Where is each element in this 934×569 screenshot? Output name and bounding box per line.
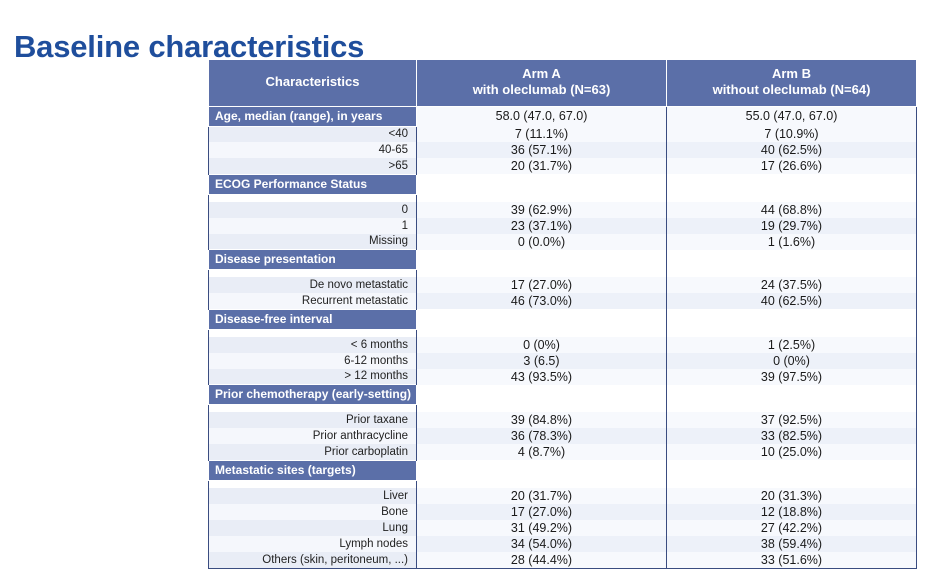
table-row: Prior anthracycline36 (78.3%)33 (82.5%) [209,428,917,444]
table-row: >6520 (31.7%)17 (26.6%) [209,158,917,174]
row-value-arm-b: 40 (62.5%) [667,293,917,309]
row-value-arm-a: 39 (62.9%) [417,202,667,218]
table-section-row: Prior chemotherapy (early-setting) [209,385,917,405]
spacer-cell [209,270,417,278]
table-spacer-row [209,194,917,202]
table-row: Prior taxane39 (84.8%)37 (92.5%) [209,412,917,428]
row-label: Prior taxane [209,412,417,428]
section-value-empty [417,460,667,480]
row-value-arm-b: 33 (82.5%) [667,428,917,444]
baseline-characteristics-table: Characteristics Arm A with oleclumab (N=… [208,59,916,569]
table-section-row: Disease-free interval [209,309,917,329]
section-value-empty [667,460,917,480]
section-value-empty [667,385,917,405]
table-row: Prior carboplatin4 (8.7%)10 (25.0%) [209,444,917,460]
spacer-cell [417,194,667,202]
section-value-empty [417,385,667,405]
section-label: Metastatic sites (targets) [209,460,417,480]
row-label: Missing [209,234,417,250]
row-value-arm-b: 10 (25.0%) [667,444,917,460]
row-label: Others (skin, peritoneum, ...) [209,552,417,569]
row-label: Recurrent metastatic [209,293,417,309]
row-value-arm-b: 24 (37.5%) [667,277,917,293]
row-value-arm-a: 20 (31.7%) [417,158,667,174]
row-value-arm-b: 12 (18.8%) [667,504,917,520]
row-label: < 6 months [209,337,417,353]
column-header-arm-b-label: Arm B [671,66,912,82]
row-value-arm-a: 46 (73.0%) [417,293,667,309]
spacer-cell [209,405,417,413]
row-value-arm-b: 19 (29.7%) [667,218,917,234]
table-spacer-row [209,270,917,278]
column-header-characteristics-label: Characteristics [213,74,412,90]
section-label: Age, median (range), in years [209,106,417,126]
table-row: Liver20 (31.7%)20 (31.3%) [209,488,917,504]
table-body: Age, median (range), in years58.0 (47.0,… [209,106,917,568]
row-label: Bone [209,504,417,520]
section-value: 55.0 (47.0, 67.0) [667,106,917,126]
section-value-empty [667,250,917,270]
row-label: Lung [209,520,417,536]
spacer-cell [209,480,417,488]
table-row: Missing0 (0.0%)1 (1.6%) [209,234,917,250]
row-value-arm-a: 34 (54.0%) [417,536,667,552]
table-row: Recurrent metastatic46 (73.0%)40 (62.5%) [209,293,917,309]
table-spacer-row [209,405,917,413]
row-value-arm-b: 37 (92.5%) [667,412,917,428]
row-label: De novo metastatic [209,277,417,293]
table-row: De novo metastatic17 (27.0%)24 (37.5%) [209,277,917,293]
spacer-cell [417,405,667,413]
row-label: 6-12 months [209,353,417,369]
table-row: Lymph nodes34 (54.0%)38 (59.4%) [209,536,917,552]
row-value-arm-a: 7 (11.1%) [417,126,667,142]
row-value-arm-b: 0 (0%) [667,353,917,369]
table-spacer-row [209,329,917,337]
row-value-arm-b: 33 (51.6%) [667,552,917,569]
spacer-cell [667,270,917,278]
spacer-cell [417,270,667,278]
row-value-arm-b: 1 (1.6%) [667,234,917,250]
row-label: Liver [209,488,417,504]
row-value-arm-b: 44 (68.8%) [667,202,917,218]
section-label: Disease-free interval [209,309,417,329]
row-value-arm-a: 36 (78.3%) [417,428,667,444]
spacer-cell [667,405,917,413]
column-header-characteristics: Characteristics [209,60,417,107]
table-row: < 6 months0 (0%)1 (2.5%) [209,337,917,353]
row-value-arm-a: 17 (27.0%) [417,277,667,293]
row-value-arm-b: 17 (26.6%) [667,158,917,174]
row-value-arm-b: 38 (59.4%) [667,536,917,552]
row-value-arm-a: 43 (93.5%) [417,369,667,385]
row-value-arm-a: 28 (44.4%) [417,552,667,569]
row-label: 40-65 [209,142,417,158]
row-value-arm-a: 39 (84.8%) [417,412,667,428]
row-label: <40 [209,126,417,142]
spacer-cell [209,194,417,202]
row-value-arm-a: 3 (6.5) [417,353,667,369]
section-value: 58.0 (47.0, 67.0) [417,106,667,126]
section-label: Disease presentation [209,250,417,270]
row-value-arm-a: 17 (27.0%) [417,504,667,520]
section-value-empty [667,309,917,329]
table-row: Lung31 (49.2%)27 (42.2%) [209,520,917,536]
section-label: Prior chemotherapy (early-setting) [209,385,417,405]
table-row: Bone17 (27.0%)12 (18.8%) [209,504,917,520]
section-value-empty [667,174,917,194]
column-header-arm-b-sub: without oleclumab (N=64) [671,82,912,98]
row-label: Lymph nodes [209,536,417,552]
column-header-arm-a: Arm A with oleclumab (N=63) [417,60,667,107]
row-value-arm-b: 40 (62.5%) [667,142,917,158]
table-section-row: Age, median (range), in years58.0 (47.0,… [209,106,917,126]
row-value-arm-a: 20 (31.7%) [417,488,667,504]
table-section-row: Disease presentation [209,250,917,270]
table-row: > 12 months43 (93.5%)39 (97.5%) [209,369,917,385]
row-label: > 12 months [209,369,417,385]
header-row: Characteristics Arm A with oleclumab (N=… [209,60,917,107]
spacer-cell [417,329,667,337]
table: Characteristics Arm A with oleclumab (N=… [208,59,917,569]
column-header-arm-b: Arm B without oleclumab (N=64) [667,60,917,107]
spacer-cell [667,329,917,337]
table-row: 039 (62.9%)44 (68.8%) [209,202,917,218]
table-section-row: ECOG Performance Status [209,174,917,194]
row-label: Prior carboplatin [209,444,417,460]
row-value-arm-a: 4 (8.7%) [417,444,667,460]
row-label: >65 [209,158,417,174]
spacer-cell [667,480,917,488]
table-row: Others (skin, peritoneum, ...)28 (44.4%)… [209,552,917,569]
spacer-cell [209,329,417,337]
column-header-arm-a-sub: with oleclumab (N=63) [421,82,662,98]
row-value-arm-b: 1 (2.5%) [667,337,917,353]
table-section-row: Metastatic sites (targets) [209,460,917,480]
spacer-cell [667,194,917,202]
table-row: 40-6536 (57.1%)40 (62.5%) [209,142,917,158]
row-label: 1 [209,218,417,234]
table-row: <407 (11.1%)7 (10.9%) [209,126,917,142]
section-value-empty [417,309,667,329]
row-value-arm-b: 27 (42.2%) [667,520,917,536]
row-value-arm-b: 20 (31.3%) [667,488,917,504]
section-value-empty [417,174,667,194]
table-header: Characteristics Arm A with oleclumab (N=… [209,60,917,107]
row-label: Prior anthracycline [209,428,417,444]
table-spacer-row [209,480,917,488]
row-label: 0 [209,202,417,218]
row-value-arm-a: 0 (0.0%) [417,234,667,250]
row-value-arm-a: 23 (37.1%) [417,218,667,234]
row-value-arm-a: 36 (57.1%) [417,142,667,158]
row-value-arm-b: 7 (10.9%) [667,126,917,142]
row-value-arm-b: 39 (97.5%) [667,369,917,385]
section-label: ECOG Performance Status [209,174,417,194]
row-value-arm-a: 0 (0%) [417,337,667,353]
table-row: 6-12 months3 (6.5)0 (0%) [209,353,917,369]
table-row: 123 (37.1%)19 (29.7%) [209,218,917,234]
row-value-arm-a: 31 (49.2%) [417,520,667,536]
spacer-cell [417,480,667,488]
column-header-arm-a-label: Arm A [421,66,662,82]
section-value-empty [417,250,667,270]
